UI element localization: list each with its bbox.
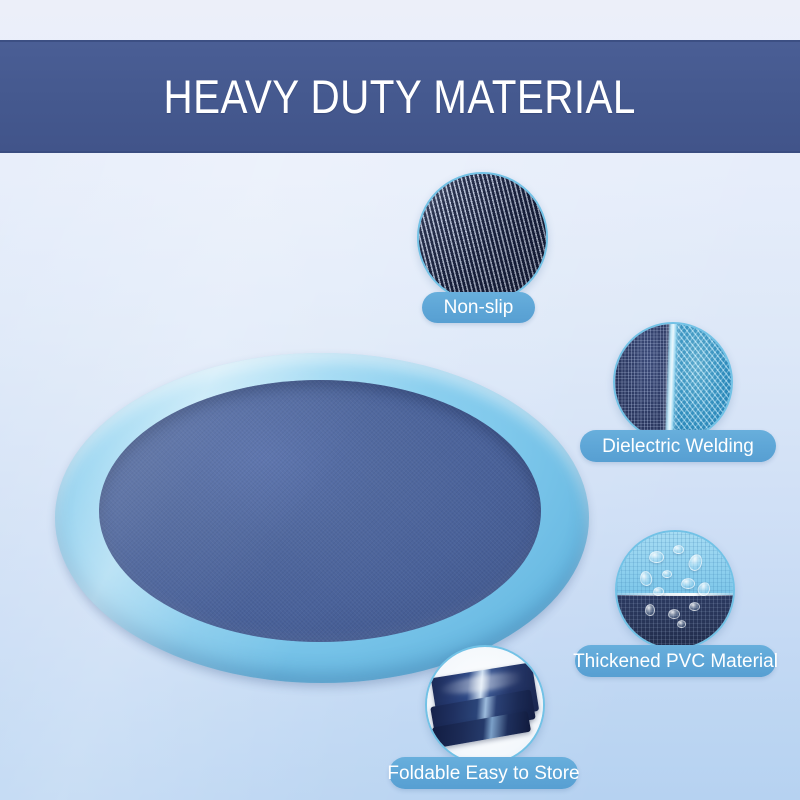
feature-label-foldable-easy-to-store[interactable]: Foldable Easy to Store [389,757,578,789]
water-droplet [649,551,664,563]
water-droplet [681,578,695,589]
dielectric-welding-texture-base [615,324,731,440]
product-image-splash-pad [52,350,592,690]
welding-navy-panel [615,324,671,440]
pvc-waterline [617,593,733,596]
feature-label-non-slip[interactable]: Non-slip [422,292,535,323]
product-feature-infographic: HEAVY DUTY MATERIAL Non-slip Dielectr [0,0,800,800]
water-droplet [673,545,684,554]
pvc-texture-base [617,532,733,648]
water-droplet [689,602,700,611]
product-surface-texture [99,380,541,642]
page-title: HEAVY DUTY MATERIAL [164,73,636,120]
water-droplet [668,609,680,619]
water-droplet [653,587,664,596]
product-mat-surface [99,380,541,642]
foldable-texture-base [427,647,543,763]
feature-swatch-dielectric-welding [613,322,733,442]
welding-cyan-panel [671,324,731,440]
welding-cyan-grid [671,324,731,440]
pvc-upper-dot-grid [617,532,733,595]
water-droplet [645,604,655,616]
welding-navy-grid [615,324,671,440]
pvc-lower-dot-grid [617,595,733,648]
pvc-upper-layer [617,532,733,595]
non-slip-sheen [419,174,546,301]
feature-label-thickened-pvc-material[interactable]: Thickened PVC Material [575,645,776,677]
product-surface-highlight [99,380,541,642]
feature-swatch-non-slip [417,172,548,303]
header-band: HEAVY DUTY MATERIAL [0,40,800,153]
non-slip-texture-base [419,174,546,301]
feature-swatch-foldable-easy-to-store [425,645,545,765]
pvc-lower-layer [617,595,733,648]
feature-swatch-thickened-pvc-material [615,530,735,650]
feature-label-dielectric-welding[interactable]: Dielectric Welding [580,430,776,462]
